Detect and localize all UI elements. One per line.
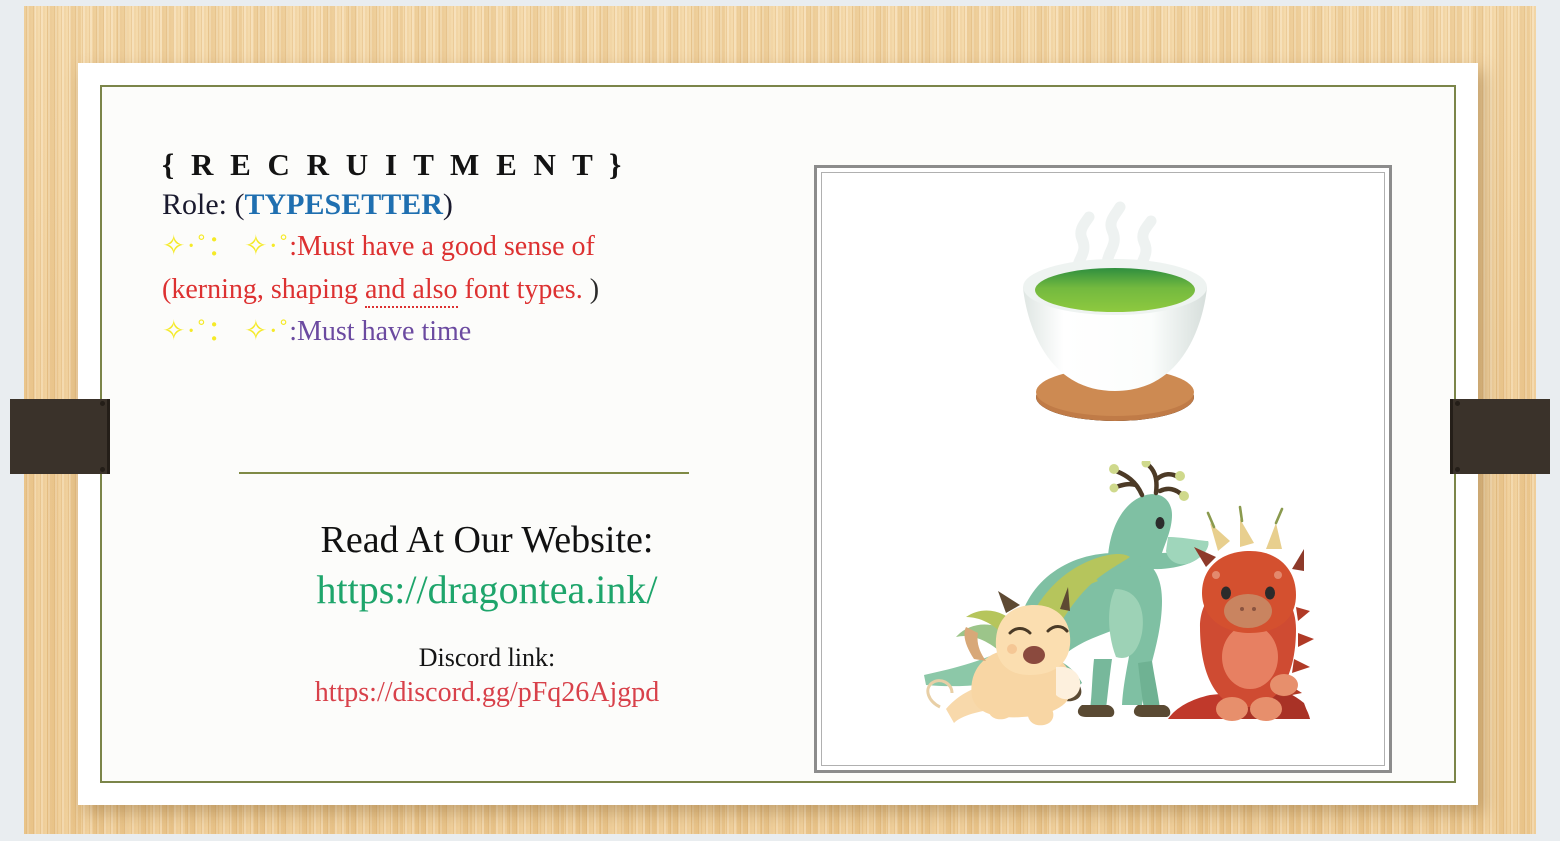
sparkle-icon: ✧·˚： ✧·˚ xyxy=(162,231,289,262)
role-label: Role: ( xyxy=(162,188,245,221)
section-divider xyxy=(239,472,689,474)
role-close: ) xyxy=(443,188,453,221)
discord-label: Discord link: xyxy=(162,641,812,675)
requirement-item-2: ✧·˚： ✧·˚:Must have time xyxy=(162,311,812,354)
requirement-detail-pre: (kerning, shaping xyxy=(162,274,365,305)
role-value: TYPESETTER xyxy=(245,188,443,221)
requirement-text-2: Must have time xyxy=(297,316,471,347)
read-at-label: Read At Our Website: xyxy=(162,517,812,565)
requirement-colon-1: : xyxy=(289,231,297,262)
clip-right xyxy=(1450,399,1550,474)
artwork-picture-frame xyxy=(814,165,1392,773)
requirement-detail-close: ) xyxy=(583,274,599,305)
page-title: { R E C R U I T M E N T } xyxy=(162,147,812,184)
requirement-text-1: Must have a good sense of xyxy=(297,231,595,262)
requirement-item-1: ✧·˚： ✧·˚:Must have a good sense of xyxy=(162,226,812,269)
website-block: Read At Our Website: https://dragontea.i… xyxy=(162,517,812,711)
three-dragons-illustration xyxy=(910,461,1330,731)
poster-card: { R E C R U I T M E N T } Role: (TYPESET… xyxy=(78,63,1478,805)
requirement-item-1-continued: (kerning, shaping and also font types. ) xyxy=(162,269,812,312)
recruitment-text-column: { R E C R U I T M E N T } Role: (TYPESET… xyxy=(162,147,812,354)
requirement-detail-underlined: and also xyxy=(365,274,458,308)
role-line: Role: (TYPESETTER) xyxy=(162,184,812,227)
website-url-link[interactable]: https://dragontea.ink/ xyxy=(162,565,812,615)
green-tea-cup-illustration xyxy=(990,201,1240,441)
clip-left xyxy=(10,399,110,474)
poster-card-inner-border: { R E C R U I T M E N T } Role: (TYPESET… xyxy=(100,85,1456,783)
artwork-frame-inner xyxy=(821,172,1385,766)
requirement-detail-post: font types. xyxy=(458,274,583,305)
discord-url-link[interactable]: https://discord.gg/pFq26Ajgpd xyxy=(162,675,812,711)
sparkle-icon: ✧·˚： ✧·˚ xyxy=(162,316,289,347)
requirement-colon-2: : xyxy=(289,316,297,347)
